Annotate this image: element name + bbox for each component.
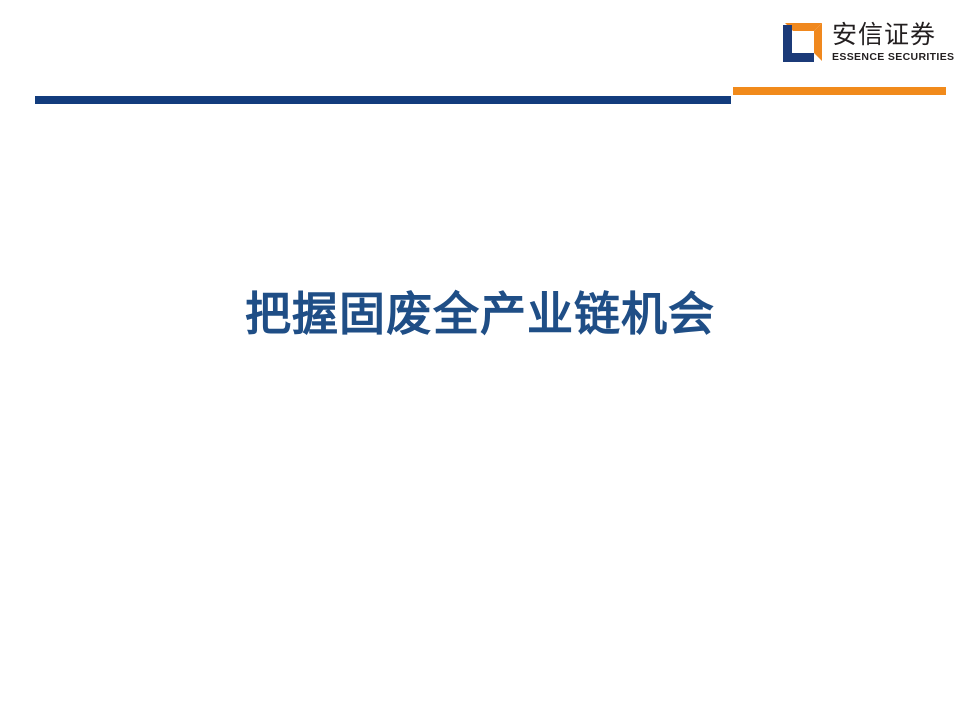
brand-name-cn: 安信证券 — [832, 20, 954, 50]
brand-wordmark: 安信证券 ESSENCE SECURITIES — [832, 20, 954, 64]
header-rule-blue — [35, 96, 731, 104]
brand-name-en: ESSENCE SECURITIES — [832, 51, 954, 64]
essence-securities-logo-mark-icon — [783, 22, 823, 63]
slide-title: 把握固废全产业链机会 — [245, 286, 715, 342]
presentation-slide: 安信证券 ESSENCE SECURITIES 把握固废全产业链机会 — [0, 0, 960, 720]
title-block: 把握固废全产业链机会 — [0, 286, 960, 342]
brand-lockup: 安信证券 ESSENCE SECURITIES — [780, 16, 952, 74]
header-rule-orange — [733, 87, 946, 95]
